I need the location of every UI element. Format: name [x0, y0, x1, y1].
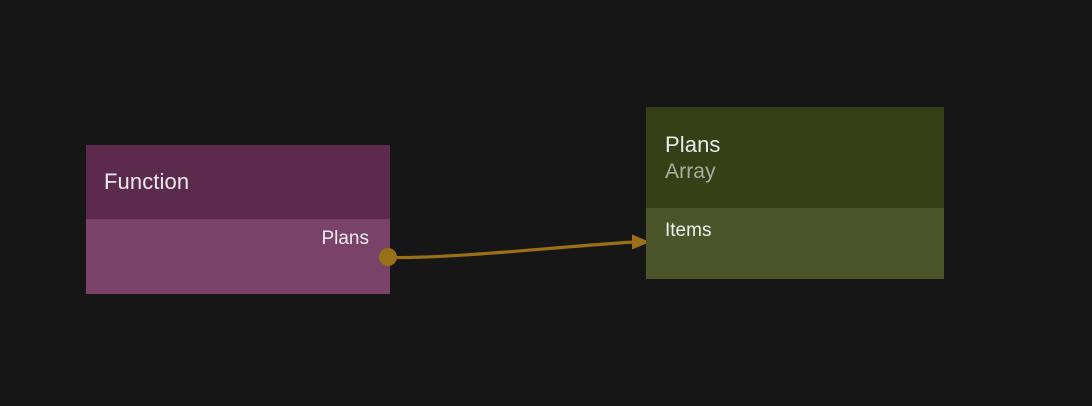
- edge-function-plans-to-plans-items: [390, 235, 650, 258]
- node-plans-subtitle: Array: [665, 159, 925, 184]
- node-graph-canvas[interactable]: Function Plans Plans Array Items: [0, 0, 1092, 406]
- node-plans-port-items-label: Items: [665, 220, 711, 242]
- node-function[interactable]: Function Plans: [86, 145, 390, 294]
- node-plans-header[interactable]: Plans Array: [646, 107, 944, 208]
- node-function-port-plans[interactable]: Plans: [86, 219, 390, 259]
- node-function-title: Function: [104, 169, 372, 195]
- node-plans[interactable]: Plans Array Items: [646, 107, 944, 279]
- node-function-body: Plans: [86, 219, 390, 294]
- edge-path: [390, 242, 634, 258]
- node-function-header[interactable]: Function: [86, 145, 390, 219]
- output-port-dot-plans[interactable]: [379, 248, 397, 266]
- node-plans-title: Plans: [665, 132, 925, 158]
- node-plans-port-items[interactable]: Items: [646, 208, 944, 254]
- node-function-port-plans-label: Plans: [321, 228, 369, 250]
- node-plans-body: Items: [646, 208, 944, 279]
